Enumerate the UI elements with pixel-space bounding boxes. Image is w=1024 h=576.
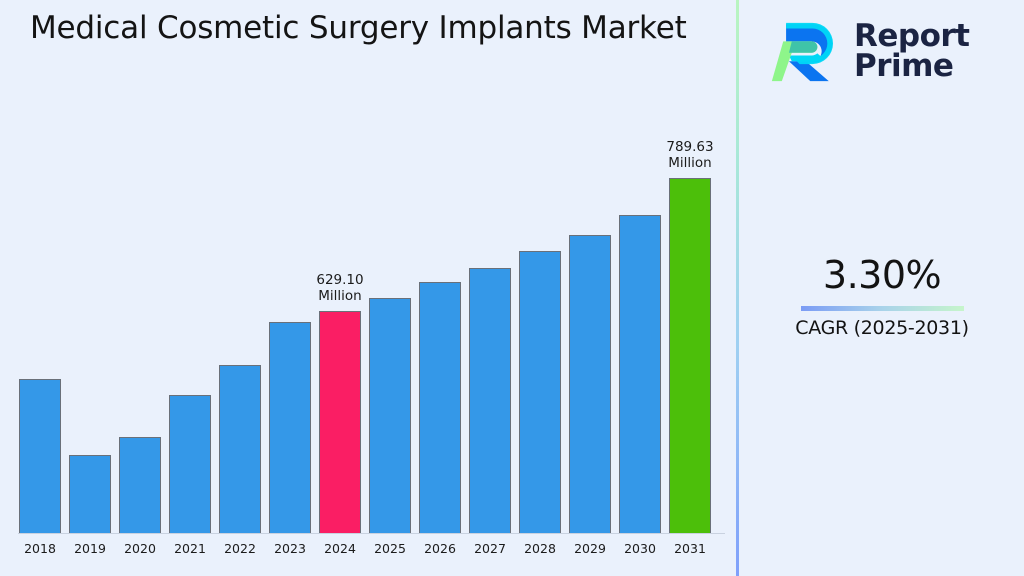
panel-divider bbox=[736, 0, 739, 576]
x-axis-line bbox=[18, 533, 725, 534]
bar-2023[interactable] bbox=[269, 322, 311, 533]
cagr-block: 3.30% CAGR (2025-2031) bbox=[740, 255, 1024, 339]
cagr-caption: CAGR (2025-2031) bbox=[740, 317, 1024, 339]
bar-chart-plot-area: 2018201920202021202220232024629.10 Milli… bbox=[0, 0, 737, 576]
bar-2031[interactable] bbox=[669, 178, 711, 533]
bar-2022[interactable] bbox=[219, 365, 261, 533]
cagr-divider bbox=[801, 306, 964, 311]
bar-2021[interactable] bbox=[169, 395, 211, 533]
cagr-value: 3.30% bbox=[740, 255, 1024, 297]
bar-2029[interactable] bbox=[569, 235, 611, 533]
bar-2018[interactable] bbox=[19, 379, 61, 533]
bar-value-label-2031: 789.63 Million bbox=[644, 139, 736, 172]
bar-2026[interactable] bbox=[419, 282, 461, 533]
report-prime-logo-icon bbox=[770, 20, 842, 84]
chart-panel: Medical Cosmetic Surgery Implants Market… bbox=[0, 0, 737, 576]
x-tick-label-2031: 2031 bbox=[660, 541, 720, 556]
bar-2019[interactable] bbox=[69, 455, 111, 533]
brand-name: Report Prime bbox=[854, 22, 970, 82]
bar-2024[interactable] bbox=[319, 311, 361, 533]
bar-2027[interactable] bbox=[469, 268, 511, 533]
brand-panel: Report Prime 3.30% CAGR (2025-2031) bbox=[740, 0, 1024, 576]
bar-2025[interactable] bbox=[369, 298, 411, 533]
brand-logo: Report Prime bbox=[770, 12, 1010, 92]
bar-2028[interactable] bbox=[519, 251, 561, 533]
infographic-root: Medical Cosmetic Surgery Implants Market… bbox=[0, 0, 1024, 576]
bar-2030[interactable] bbox=[619, 215, 661, 533]
bar-2020[interactable] bbox=[119, 437, 161, 533]
